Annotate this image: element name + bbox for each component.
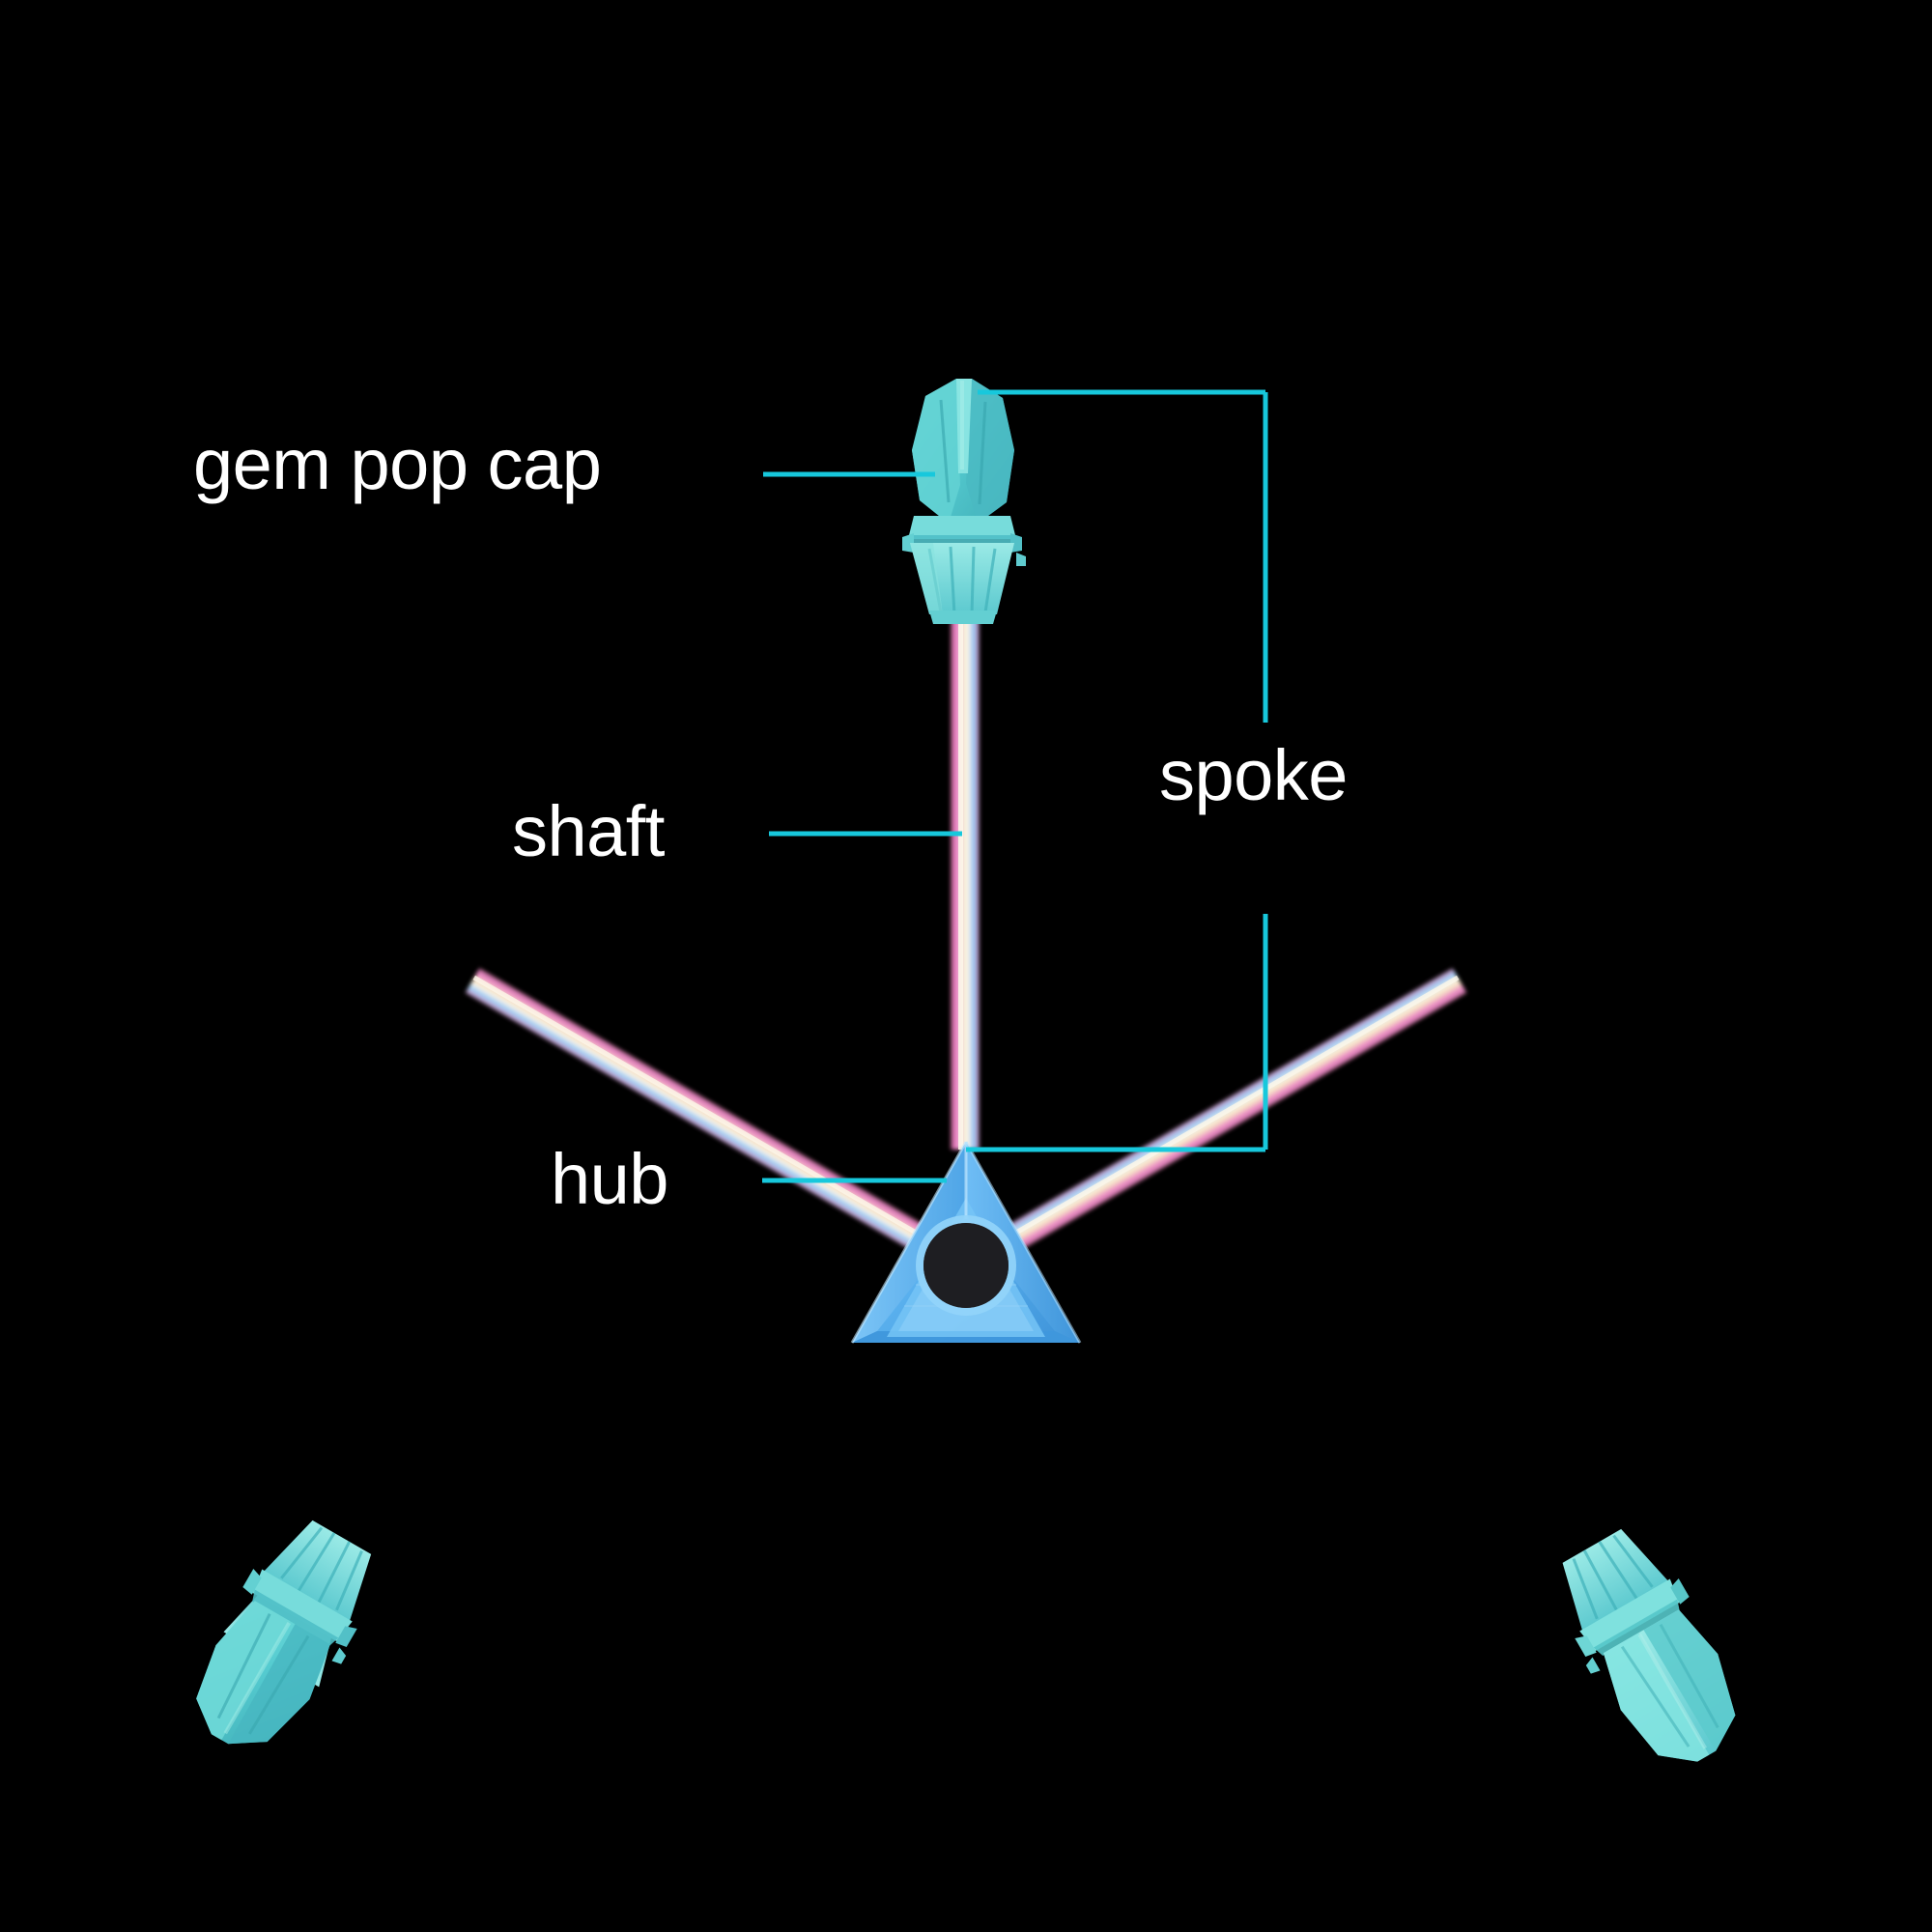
day-triad-illustration [0,0,1932,1932]
label-spoke: spoke [1159,734,1348,816]
label-hub: hub [551,1138,668,1220]
label-gem-pop-cap: gem pop cap [193,423,601,505]
diagram-canvas: day triad anatomy [0,0,1932,1932]
shaft-top [951,580,980,1150]
label-shaft: shaft [512,790,665,872]
